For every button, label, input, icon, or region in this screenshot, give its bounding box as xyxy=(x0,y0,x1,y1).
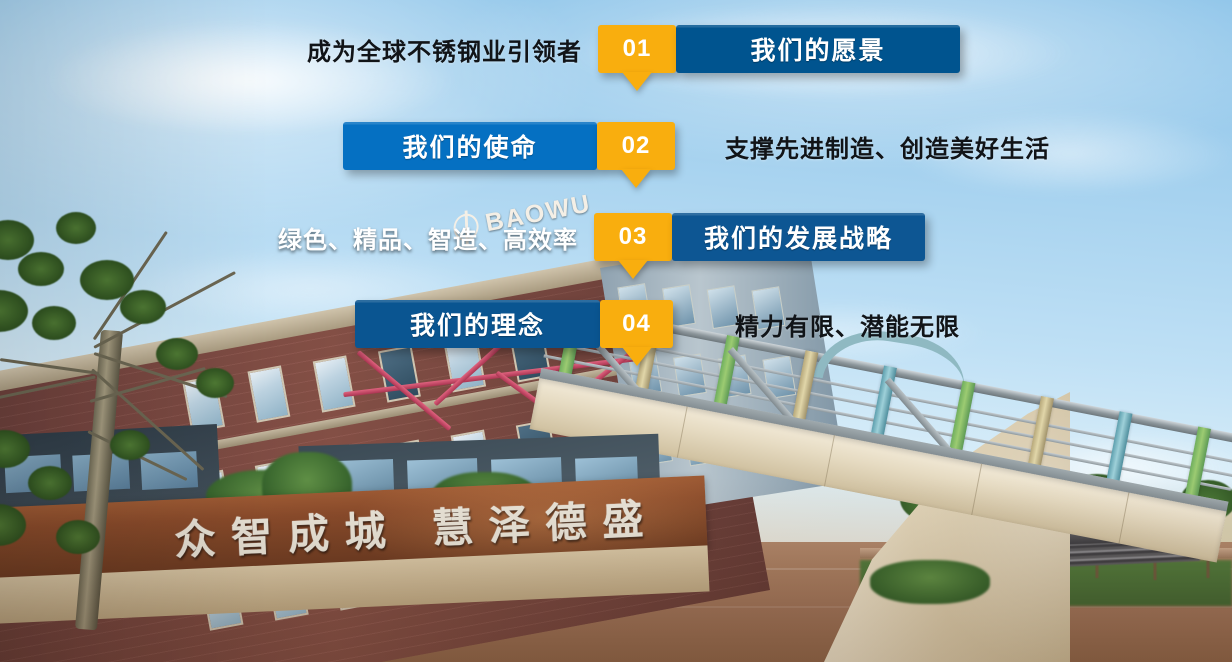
panel-label-03[interactable]: 我们的发展战略 xyxy=(672,213,925,261)
slide-canvas: BAOWU xyxy=(0,0,1232,662)
number-tag-03[interactable]: 03 xyxy=(594,213,672,261)
caption-01: 成为全球不锈钢业引领者 xyxy=(230,25,582,73)
caption-02: 支撑先进制造、创造美好生活 xyxy=(725,122,1105,170)
culture-row-02: 我们的使命 02 支撑先进制造、创造美好生活 xyxy=(0,122,1232,170)
number-tag-02[interactable]: 02 xyxy=(597,122,675,170)
panel-label-04[interactable]: 我们的理念 xyxy=(355,300,600,348)
number-tag-04[interactable]: 04 xyxy=(600,300,673,348)
panel-label-02[interactable]: 我们的使命 xyxy=(343,122,597,170)
culture-infographic: 成为全球不锈钢业引领者 01 我们的愿景 我们的使命 02 支撑先进制造、创造美… xyxy=(0,0,1232,662)
caption-04: 精力有限、潜能无限 xyxy=(735,300,1055,348)
number-tag-01[interactable]: 01 xyxy=(598,25,676,73)
panel-label-01[interactable]: 我们的愿景 xyxy=(676,25,960,73)
culture-row-01: 成为全球不锈钢业引领者 01 我们的愿景 xyxy=(0,25,1232,73)
culture-row-03: 绿色、精品、智造、高效率 03 我们的发展战略 xyxy=(0,213,1232,261)
culture-row-04: 我们的理念 04 精力有限、潜能无限 xyxy=(0,300,1232,348)
caption-03: 绿色、精品、智造、高效率 xyxy=(238,213,578,261)
